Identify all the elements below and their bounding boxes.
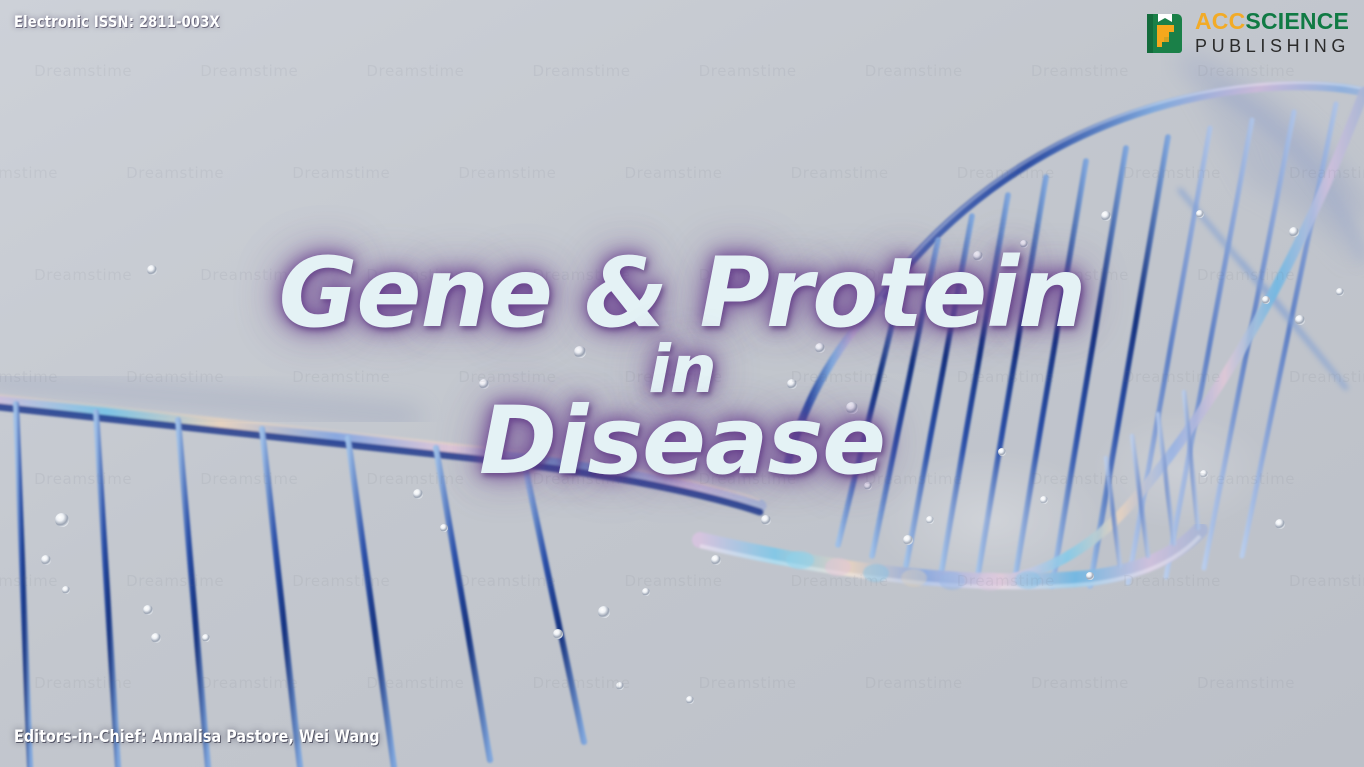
logo-publishing-text: PUBLISHING (1195, 37, 1350, 55)
editors-in-chief-label: Editors-in-Chief: Annalisa Pastore, Wei … (14, 727, 380, 747)
book-icon (1144, 11, 1186, 55)
publisher-logo[interactable]: ACCSCIENCE PUBLISHING (1144, 10, 1350, 55)
publisher-wordmark: ACCSCIENCE PUBLISHING (1195, 10, 1350, 55)
logo-science-text: SCIENCE (1245, 8, 1349, 34)
dna-helix-artwork (0, 0, 1364, 767)
logo-acc-text: ACC (1195, 8, 1245, 34)
issn-label: Electronic ISSN: 2811-003X (14, 12, 220, 31)
publisher-name-line: ACCSCIENCE (1195, 10, 1350, 33)
journal-cover: DreamstimeDreamstimeDreamstimeDreamstime… (0, 0, 1364, 767)
